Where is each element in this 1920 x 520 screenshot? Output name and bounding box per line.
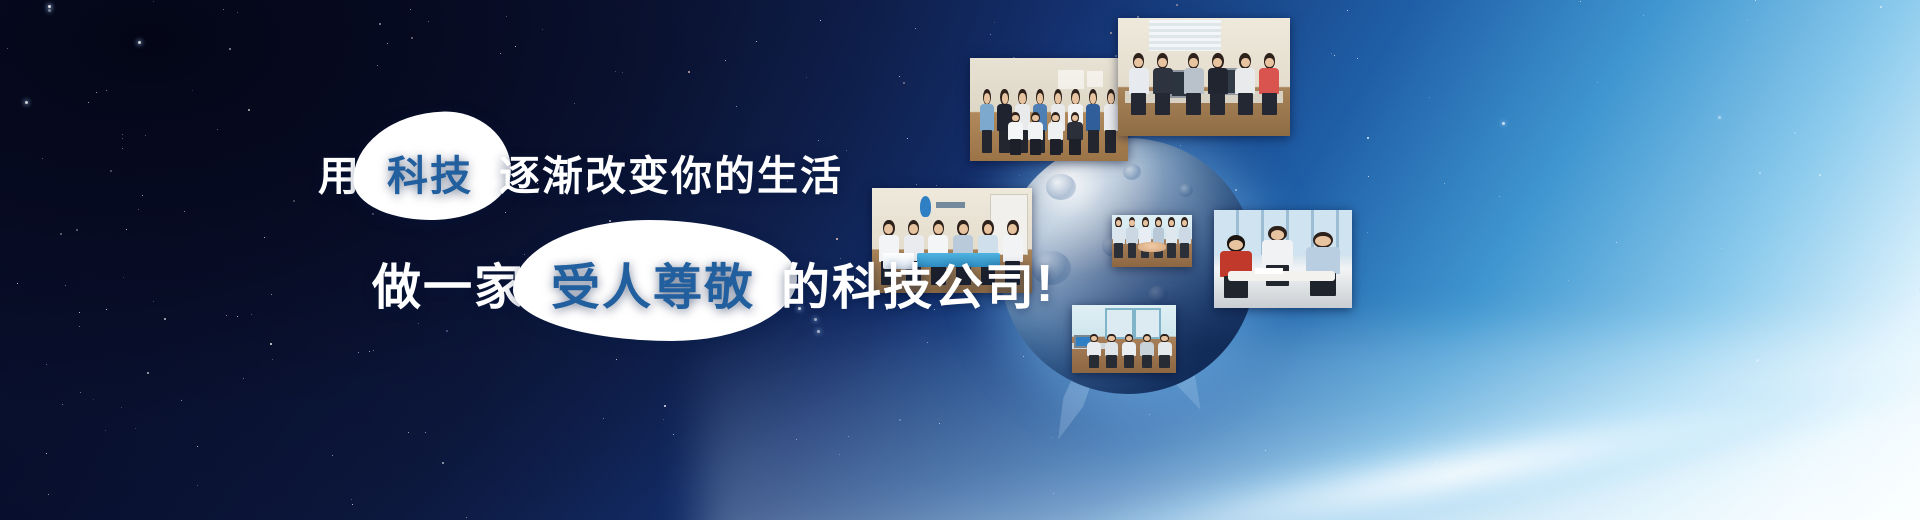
person-face bbox=[1052, 115, 1059, 122]
star bbox=[1597, 82, 1598, 83]
photo-computer-lab[interactable] bbox=[1072, 305, 1176, 373]
person-torso bbox=[1113, 227, 1125, 244]
person bbox=[1183, 53, 1204, 114]
person-legs bbox=[1030, 139, 1041, 155]
star bbox=[1499, 196, 1500, 197]
person bbox=[1126, 217, 1138, 258]
person-face bbox=[1072, 93, 1078, 103]
person-torso bbox=[1179, 227, 1191, 244]
star bbox=[1794, 132, 1796, 134]
person-torso bbox=[1129, 68, 1149, 94]
person-torso bbox=[1259, 68, 1279, 94]
person bbox=[1179, 217, 1191, 258]
person-face bbox=[1090, 93, 1096, 103]
person-face bbox=[1108, 93, 1114, 103]
window-blind bbox=[1149, 20, 1221, 51]
person-legs bbox=[1124, 355, 1134, 367]
person-legs bbox=[1114, 243, 1123, 258]
person bbox=[1157, 334, 1172, 368]
headline-line2-prefix: 做一家 bbox=[372, 248, 525, 319]
star bbox=[1334, 55, 1335, 56]
person bbox=[1113, 217, 1125, 258]
person-torso bbox=[1086, 104, 1100, 131]
headline-line2-highlight: 受人尊敬 bbox=[531, 246, 775, 321]
headline-line2-suffix: 的科技公司 bbox=[781, 248, 1036, 319]
person-torso bbox=[1208, 68, 1228, 94]
person bbox=[1103, 89, 1118, 153]
person-torso bbox=[1140, 342, 1154, 356]
person-torso bbox=[1067, 122, 1082, 140]
person bbox=[1086, 89, 1101, 153]
person-torso bbox=[1235, 68, 1255, 94]
person-legs bbox=[1238, 93, 1253, 115]
person-face bbox=[1108, 336, 1114, 341]
photo-hands-together[interactable] bbox=[1112, 215, 1192, 267]
person-legs bbox=[1050, 139, 1061, 155]
person-torso bbox=[1105, 342, 1119, 356]
person bbox=[1104, 334, 1119, 368]
person bbox=[1207, 53, 1228, 114]
person-torso bbox=[1122, 342, 1136, 356]
person-face bbox=[1037, 93, 1043, 103]
star bbox=[1758, 220, 1759, 221]
person-torso bbox=[1126, 227, 1138, 244]
star bbox=[1110, 32, 1112, 34]
star bbox=[1678, 206, 1679, 207]
person-face bbox=[1271, 230, 1285, 240]
person-torso bbox=[1008, 122, 1023, 140]
person-legs bbox=[1210, 93, 1225, 115]
star bbox=[1643, 15, 1644, 16]
person-torso bbox=[1087, 342, 1101, 356]
photo-office-desks[interactable] bbox=[1118, 18, 1290, 136]
star bbox=[1747, 20, 1748, 21]
star bbox=[1176, 4, 1178, 6]
person bbox=[1128, 53, 1149, 114]
person-legs bbox=[1010, 139, 1021, 155]
star bbox=[1819, 174, 1821, 176]
person-legs bbox=[1180, 243, 1189, 258]
star bbox=[1115, 55, 1117, 57]
person bbox=[1305, 232, 1341, 297]
person-torso bbox=[1166, 227, 1178, 244]
person-torso bbox=[1184, 68, 1204, 94]
document bbox=[1255, 268, 1283, 274]
person-face bbox=[1161, 336, 1167, 341]
person-legs bbox=[1069, 139, 1080, 155]
person-torso bbox=[1028, 122, 1043, 140]
star bbox=[1444, 183, 1445, 184]
wall-poster bbox=[1087, 71, 1103, 86]
person-legs bbox=[1167, 243, 1176, 258]
star bbox=[1616, 242, 1617, 243]
headline-line1-suffix: 逐渐改变你的生活 bbox=[499, 142, 843, 202]
star bbox=[1347, 10, 1348, 11]
person-torso bbox=[1104, 104, 1118, 131]
headline-line2-highlight-text: 受人尊敬 bbox=[551, 261, 755, 315]
headline-block: 用 科技 逐渐改变你的生活 做一家 受人尊敬 的科技公司 ! bbox=[0, 0, 1000, 520]
person bbox=[1152, 53, 1173, 114]
photo-meeting-window[interactable] bbox=[1214, 210, 1352, 308]
person bbox=[1047, 112, 1063, 155]
person-legs bbox=[1128, 243, 1137, 258]
person-legs bbox=[1142, 355, 1152, 367]
person-legs bbox=[1155, 93, 1170, 115]
headline-line1-highlight: 科技 bbox=[367, 140, 493, 204]
headline-line-1: 用 科技 逐渐改变你的生活 bbox=[318, 140, 843, 204]
person bbox=[1028, 112, 1044, 155]
person-legs bbox=[1262, 93, 1277, 115]
person-legs bbox=[1106, 355, 1116, 367]
person-face bbox=[1229, 240, 1243, 250]
person bbox=[1140, 334, 1155, 368]
person bbox=[1067, 112, 1083, 155]
person-torso bbox=[1158, 342, 1172, 356]
star bbox=[1502, 122, 1505, 125]
person bbox=[1087, 334, 1102, 368]
star bbox=[1368, 176, 1369, 177]
hero-banner: 用 科技 逐渐改变你的生活 做一家 受人尊敬 的科技公司 ! bbox=[0, 0, 1920, 520]
wall-poster bbox=[1058, 70, 1083, 89]
person bbox=[1235, 53, 1256, 114]
person-legs bbox=[1159, 355, 1169, 367]
star bbox=[1367, 232, 1368, 233]
star bbox=[1776, 154, 1777, 155]
person-face bbox=[1019, 93, 1025, 103]
person-legs bbox=[1105, 130, 1116, 153]
headline-line2-exclamation: ! bbox=[1036, 254, 1055, 314]
person bbox=[1220, 235, 1253, 298]
person bbox=[1259, 53, 1280, 114]
person-torso bbox=[1153, 68, 1173, 94]
person bbox=[1122, 334, 1137, 368]
person-legs bbox=[1088, 130, 1099, 153]
person-legs bbox=[1131, 93, 1146, 115]
star bbox=[1367, 137, 1369, 139]
star bbox=[1580, 1, 1581, 2]
headline-line-2: 做一家 受人尊敬 的科技公司 ! bbox=[372, 246, 1055, 321]
star bbox=[1755, 0, 1756, 1]
person-face bbox=[1129, 220, 1134, 226]
hands-stack bbox=[1138, 242, 1167, 252]
star bbox=[1429, 97, 1430, 98]
person-legs bbox=[1089, 355, 1099, 367]
person-face bbox=[1143, 220, 1148, 226]
person-face bbox=[1055, 93, 1061, 103]
person bbox=[1008, 112, 1024, 155]
headline-line1-highlight-text: 科技 bbox=[387, 153, 473, 199]
star bbox=[1331, 53, 1332, 54]
person-torso bbox=[1262, 240, 1294, 266]
star bbox=[1880, 6, 1882, 8]
person-face bbox=[1315, 236, 1330, 246]
star bbox=[1718, 116, 1721, 119]
star bbox=[1357, 58, 1358, 59]
person-face bbox=[1265, 58, 1274, 68]
star bbox=[1759, 172, 1761, 174]
person-torso bbox=[1048, 122, 1063, 140]
person-face bbox=[1241, 58, 1250, 68]
person-legs bbox=[1186, 93, 1201, 115]
person bbox=[1166, 217, 1178, 258]
person-face bbox=[1002, 93, 1008, 103]
